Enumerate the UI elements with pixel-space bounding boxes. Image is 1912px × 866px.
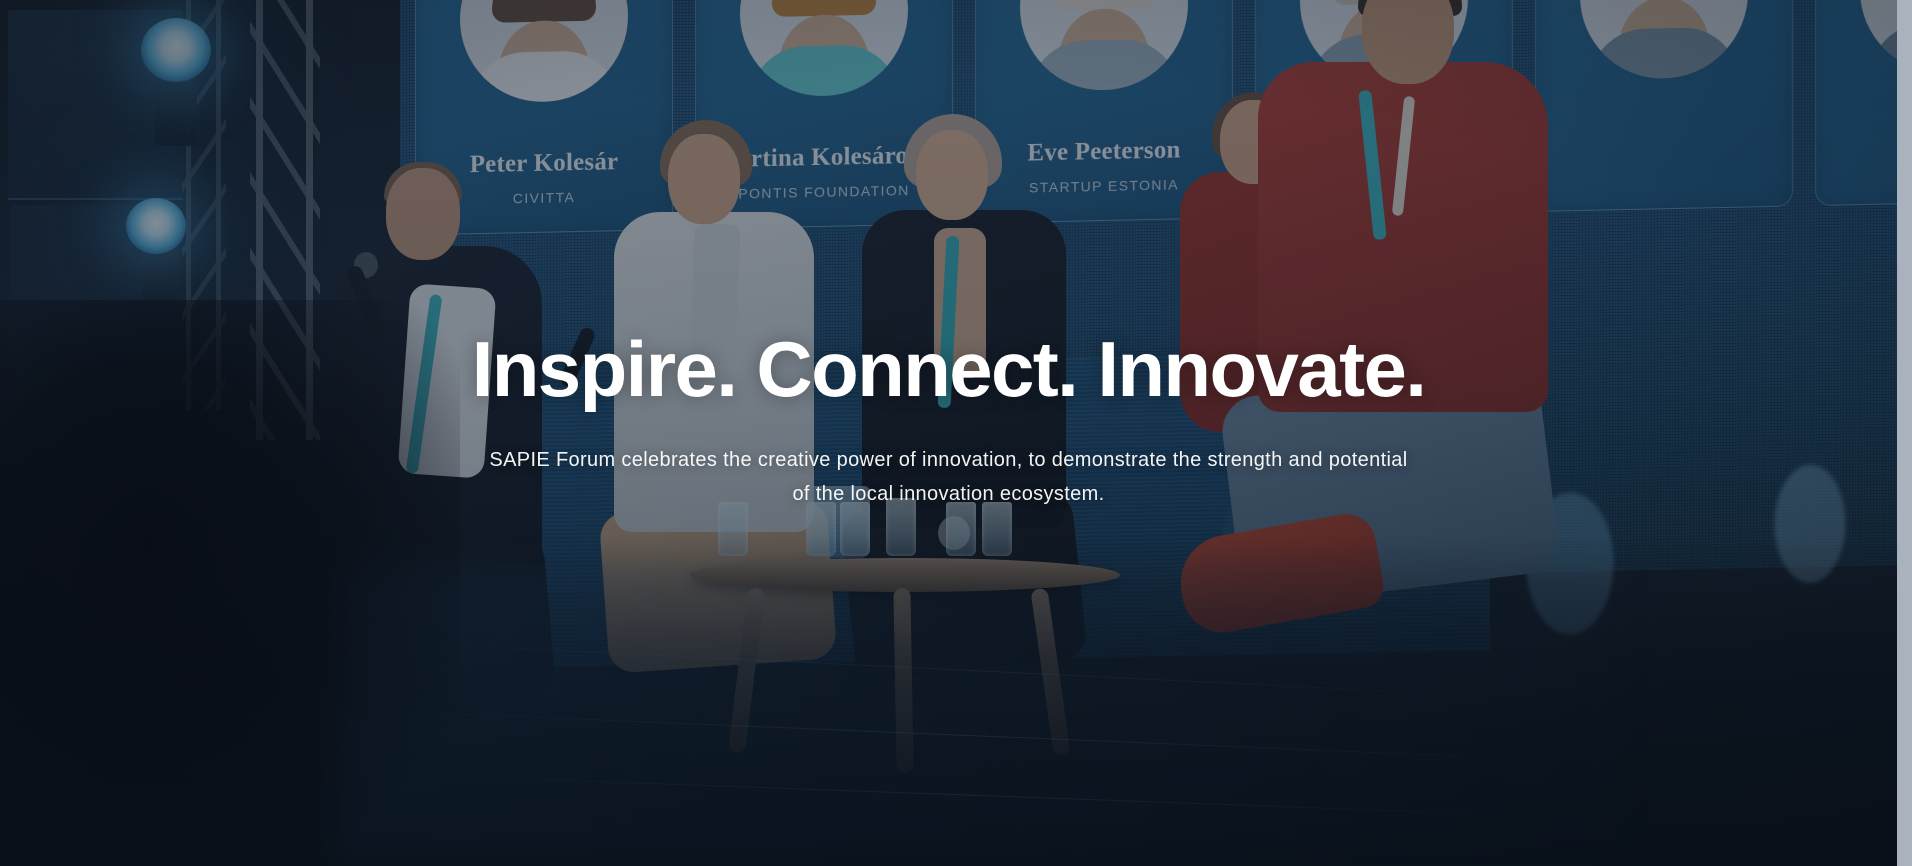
hero-content: Inspire. Connect. Innovate. SAPIE Forum … (0, 0, 1897, 866)
scrollbar-thumb[interactable] (1897, 0, 1912, 866)
hero-section: Peter Kolesár CIVITTA Martina Kolesárová… (0, 0, 1897, 866)
page-scrollbar[interactable] (1897, 0, 1912, 866)
hero-subtitle: SAPIE Forum celebrates the creative powe… (484, 443, 1414, 512)
hero-headline: Inspire. Connect. Innovate. (472, 328, 1426, 411)
